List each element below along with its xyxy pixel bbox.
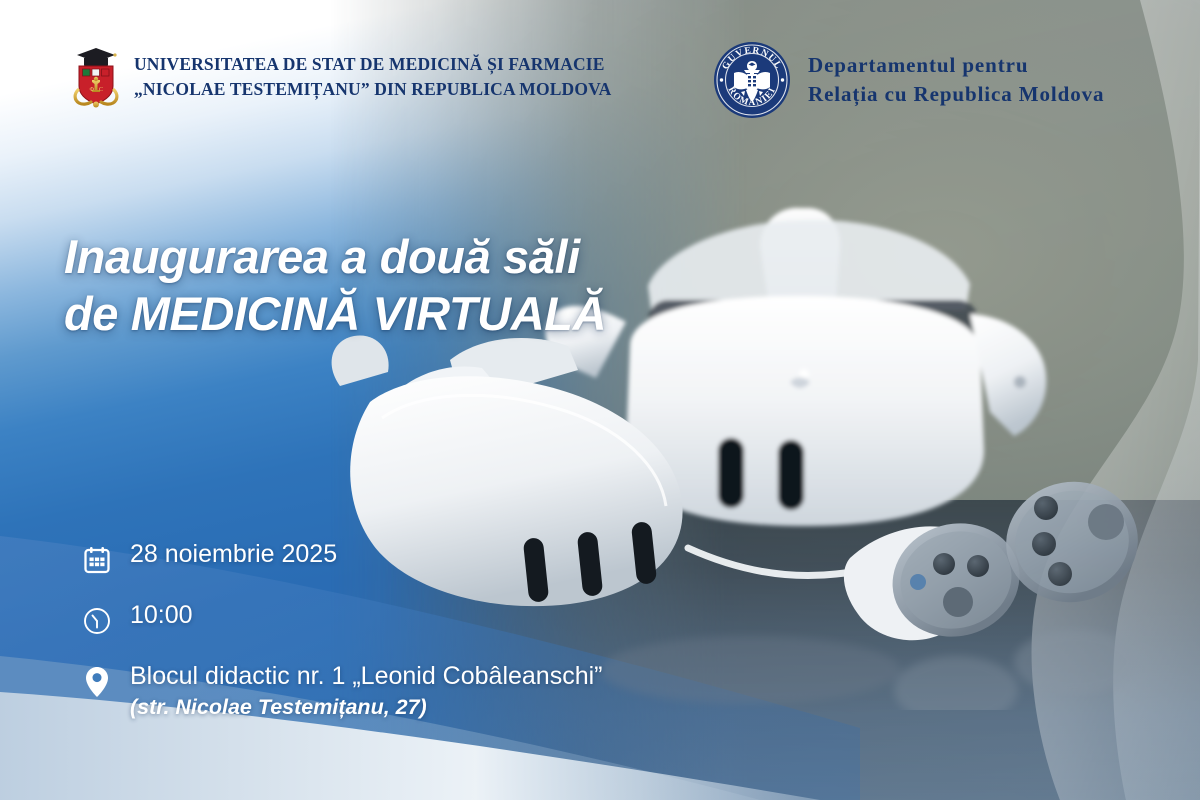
title-line-1: Inaugurarea a două săli	[64, 228, 704, 285]
poster-header: Ф С UNIVERSITATEA DE STAT DE MEDICINĂ ȘI…	[0, 0, 1200, 140]
venue-address: (str. Nicolae Testemițanu, 27)	[130, 695, 603, 720]
poster-title: Inaugurarea a două săli de MEDICINĂ VIRT…	[64, 228, 704, 343]
venue-name: Blocul didactic nr. 1 „Leonid Cobâleansc…	[130, 662, 603, 690]
svg-text:Ф: Ф	[90, 87, 95, 93]
university-name-line1: UNIVERSITATEA DE STAT DE MEDICINĂ ȘI FAR…	[134, 52, 611, 77]
guvernul-romaniei-seal: GUVERNUL ROMÂNIEI	[712, 40, 792, 120]
event-poster: Ф С UNIVERSITATEA DE STAT DE MEDICINĂ ȘI…	[0, 0, 1200, 800]
event-date: 28 noiembrie 2025	[130, 540, 337, 570]
university-name: UNIVERSITATEA DE STAT DE MEDICINĂ ȘI FAR…	[134, 52, 611, 102]
svg-text:С: С	[99, 87, 103, 93]
government-name-line1: Departamentul pentru	[808, 51, 1104, 80]
university-name-line2: „NICOLAE TESTEMIȚANU” DIN REPUBLICA MOLD…	[134, 77, 611, 102]
clock-icon	[78, 602, 116, 640]
event-venue: Blocul didactic nr. 1 „Leonid Cobâleansc…	[130, 662, 603, 720]
government-logo-block: GUVERNUL ROMÂNIEI	[712, 40, 1104, 120]
calendar-icon	[78, 541, 116, 579]
detail-row-time: 10:00	[78, 601, 638, 640]
vr-controller-left	[844, 509, 1033, 652]
map-pin-icon	[78, 663, 116, 701]
event-details: 28 noiembrie 2025 10:00 Blocul didacti	[78, 540, 638, 720]
title-line-2: de MEDICINĂ VIRTUALĂ	[64, 285, 704, 342]
device-reflections	[600, 630, 1138, 710]
government-name-line2: Relația cu Republica Moldova	[808, 80, 1104, 109]
usmf-crest-logo: Ф С	[70, 46, 122, 108]
title-line-2-prefix: de	[64, 287, 131, 340]
detail-row-venue: Blocul didactic nr. 1 „Leonid Cobâleansc…	[78, 662, 638, 720]
event-time: 10:00	[130, 601, 193, 631]
detail-row-date: 28 noiembrie 2025	[78, 540, 638, 579]
title-line-2-emphasis: MEDICINĂ VIRTUALĂ	[131, 287, 606, 340]
vr-controller-right	[997, 471, 1148, 612]
government-department-name: Departamentul pentru Relația cu Republic…	[808, 51, 1104, 108]
university-logo-block: Ф С UNIVERSITATEA DE STAT DE MEDICINĂ ȘI…	[70, 46, 611, 108]
